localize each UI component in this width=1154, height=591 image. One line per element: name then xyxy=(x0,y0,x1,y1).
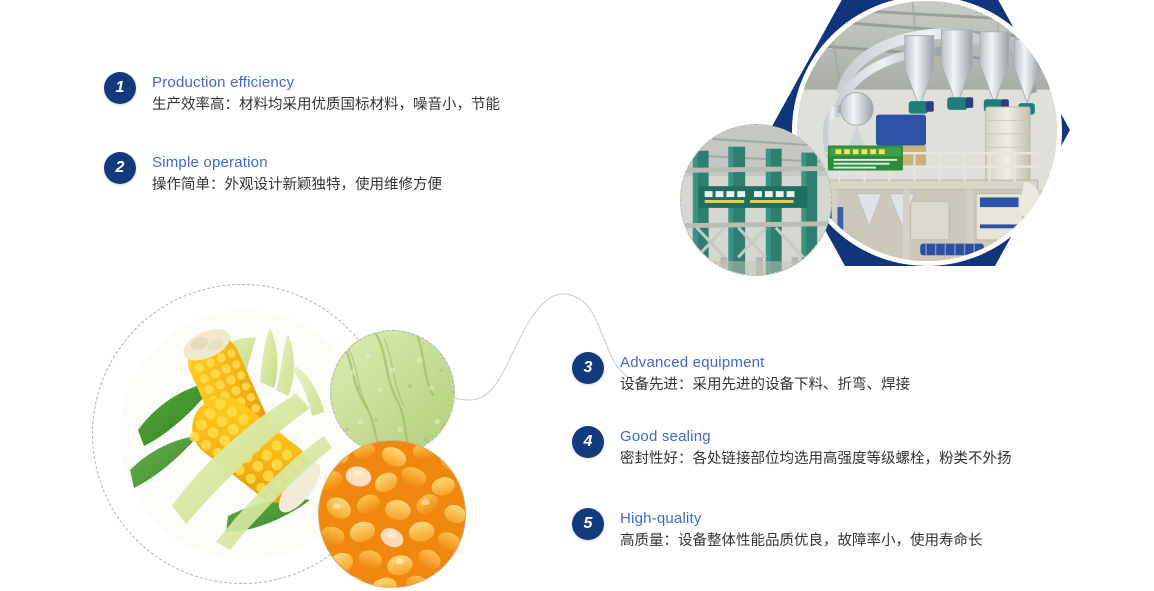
feature-desc-5: 高质量：设备整体性能品质优良，故障率小，使用寿命长 xyxy=(620,530,983,552)
feature-text-5: High-quality 高质量：设备整体性能品质优良，故障率小，使用寿命长 xyxy=(620,508,983,552)
feature-desc-4: 密封性好：各处链接部位均选用高强度等级螺栓，粉类不外扬 xyxy=(620,448,1012,470)
feature-number-badge-4: 4 xyxy=(572,426,604,458)
feature-title-5: High-quality xyxy=(620,509,983,528)
feature-number-badge-1: 1 xyxy=(104,72,136,104)
feature-number-badge-3: 3 xyxy=(572,352,604,384)
feature-item-4[interactable]: 4 Good sealing 密封性好：各处链接部位均选用高强度等级螺栓，粉类不… xyxy=(572,426,1012,470)
feature-item-2[interactable]: 2 Simple operation 操作简单：外观设计新颖独特，使用维修方便 xyxy=(104,152,442,196)
flour-milling-plant-photo xyxy=(792,0,1062,266)
feature-text-4: Good sealing 密封性好：各处链接部位均选用高强度等级螺栓，粉类不外扬 xyxy=(620,426,1012,470)
feature-infographic: 1 Production efficiency 生产效率高：材料均采用优质国标材… xyxy=(0,0,1154,591)
feature-desc-1: 生产效率高：材料均采用优质国标材料，噪音小，节能 xyxy=(152,94,500,116)
feature-desc-3: 设备先进：采用先进的设备下料、折弯、焊接 xyxy=(620,374,910,396)
feature-text-1: Production efficiency 生产效率高：材料均采用优质国标材料，… xyxy=(152,72,500,116)
feature-number-badge-2: 2 xyxy=(104,152,136,184)
feature-title-4: Good sealing xyxy=(620,427,1012,446)
feature-title-1: Production efficiency xyxy=(152,73,500,92)
feature-title-3: Advanced equipment xyxy=(620,353,910,372)
feature-item-3[interactable]: 3 Advanced equipment 设备先进：采用先进的设备下料、折弯、焊… xyxy=(572,352,910,396)
feature-title-2: Simple operation xyxy=(152,153,442,172)
feature-desc-2: 操作简单：外观设计新颖独特，使用维修方便 xyxy=(152,174,442,196)
corn-grits-photo xyxy=(318,440,466,588)
feature-text-3: Advanced equipment 设备先进：采用先进的设备下料、折弯、焊接 xyxy=(620,352,910,396)
feature-item-1[interactable]: 1 Production efficiency 生产效率高：材料均采用优质国标材… xyxy=(104,72,500,116)
feature-item-5[interactable]: 5 High-quality 高质量：设备整体性能品质优良，故障率小，使用寿命长 xyxy=(572,508,983,552)
feature-number-badge-5: 5 xyxy=(572,508,604,540)
feature-text-2: Simple operation 操作简单：外观设计新颖独特，使用维修方便 xyxy=(152,152,442,196)
green-corn-paste-photo xyxy=(330,330,455,455)
green-milling-line-photo xyxy=(680,124,832,276)
